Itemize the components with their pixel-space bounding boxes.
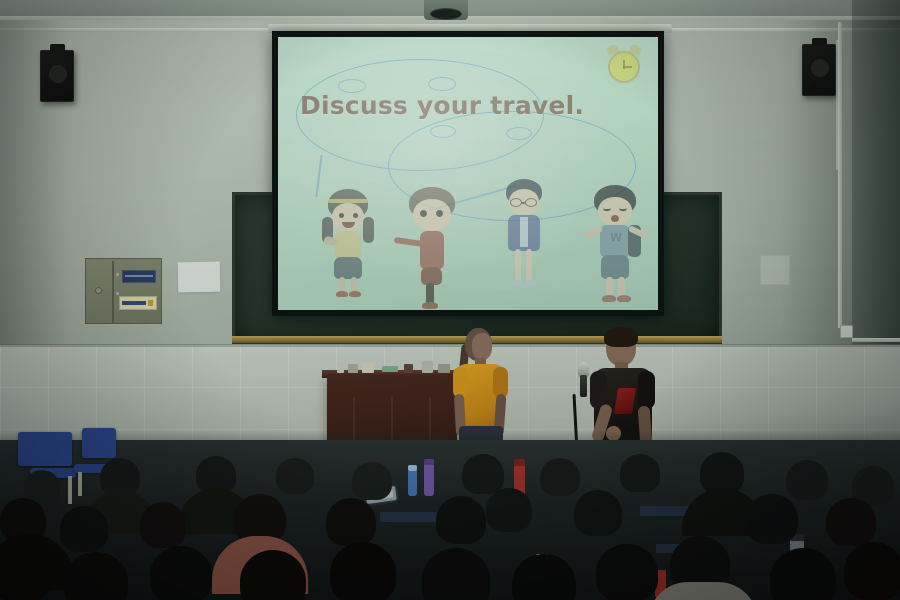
podium-item-box: [348, 364, 358, 373]
panel-divider: [112, 261, 114, 323]
podium-item-cup: [337, 362, 344, 373]
girl-eye-right: [353, 213, 358, 218]
bubble-detail: [428, 77, 456, 91]
girl-eye-left: [339, 213, 344, 218]
wall-conduit-horizontal: [852, 338, 900, 342]
projector-lens-icon: [430, 8, 462, 20]
speaker-right: [802, 44, 836, 96]
man-hair: [604, 327, 638, 347]
girl-skirt: [334, 257, 362, 279]
classroom-photo: Discuss your travel.: [0, 0, 900, 600]
student-shirt-front: [520, 217, 528, 247]
panel-label-sticker: [119, 296, 157, 310]
chair-leg: [68, 476, 72, 504]
girl-shoe-right: [349, 291, 361, 297]
audience-head: [620, 454, 660, 492]
audience-head: [844, 542, 900, 600]
boy-face: [413, 199, 451, 231]
speaker-cone-icon: [811, 59, 829, 77]
projection-screen: Discuss your travel.: [272, 31, 664, 316]
room-corner-right: [852, 0, 900, 350]
glasses-lens-right: [525, 198, 537, 207]
audience-head: [746, 494, 798, 544]
water-bottle: [408, 470, 417, 496]
bottle-cap: [514, 459, 525, 466]
cartoon-student-with-glasses: [496, 179, 552, 304]
audience-head: [422, 548, 490, 600]
panel-lcd-text-line: [125, 275, 153, 277]
panel-knob[interactable]: [95, 287, 102, 294]
podium-item-bottle: [422, 361, 433, 373]
blue-chair-back[interactable]: [82, 428, 116, 458]
wall-control-panel[interactable]: [85, 258, 162, 324]
backpack-boy-leg-left: [606, 277, 613, 297]
audience-head: [770, 548, 836, 600]
backpack-boy-shoe-left: [602, 295, 616, 302]
backpack-boy-shorts: [601, 255, 629, 279]
shirt-letter: W: [610, 231, 621, 244]
panel-label-bar: [122, 301, 146, 305]
wall-posted-paper: [178, 262, 221, 293]
bubble-detail: [506, 127, 532, 140]
backpack-boy-shoe-right: [617, 295, 631, 302]
boy-shirt: [420, 231, 444, 269]
bottle-cap: [424, 459, 434, 465]
man-sleeve-right: [638, 371, 655, 409]
speaker-bracket: [50, 44, 65, 52]
boy-shoes: [422, 302, 438, 309]
audience-head: [326, 498, 376, 546]
podium-item-marker: [382, 366, 398, 372]
panel-screw: [116, 292, 119, 295]
student-leg-left: [515, 249, 521, 283]
audience-head: [330, 542, 396, 600]
bubble-detail: [430, 125, 456, 138]
audience-head: [436, 496, 486, 544]
cartoon-boy-pointing: [396, 187, 468, 307]
audience-area: [0, 440, 900, 600]
podium-item-block: [438, 364, 450, 373]
blue-chair-back[interactable]: [18, 432, 72, 466]
panel-lcd-display: [122, 270, 156, 283]
audience-head: [140, 502, 186, 548]
boy-eye-right: [436, 210, 443, 217]
wall-conduit-vertical: [838, 22, 842, 328]
cartoon-girl-with-pigtails: [314, 189, 380, 301]
girl-shoe-left: [336, 291, 348, 297]
woman-face: [472, 333, 492, 360]
speaker-bracket: [812, 38, 827, 46]
glasses-bridge: [522, 202, 526, 204]
chair-leg: [78, 472, 82, 496]
bottle-cap: [408, 465, 417, 471]
audience-head: [64, 552, 128, 600]
wall-outlet[interactable]: [840, 325, 853, 338]
audience-head: [352, 462, 392, 500]
audience-head: [596, 544, 658, 600]
audience-head: [276, 458, 314, 494]
student-shoe-right: [525, 280, 537, 286]
clock-hand-minute: [623, 60, 625, 69]
audience-head: [826, 498, 876, 546]
backpack-boy-mouth: [611, 215, 619, 222]
girl-pigtail-right: [363, 217, 374, 243]
slide-title: Discuss your travel.: [300, 91, 584, 120]
student-leg-right: [526, 249, 532, 283]
podium-item-papers: [362, 363, 374, 373]
speaker-left: [40, 50, 74, 102]
student-shoe-left: [512, 280, 524, 286]
audience-head: [486, 488, 532, 532]
microphone-body[interactable]: [580, 375, 587, 397]
panel-label-badge: [148, 300, 153, 306]
audience-head: [150, 546, 212, 600]
wall-paper-patch: [760, 255, 790, 285]
clock-hand-hour: [623, 66, 632, 68]
audience-head: [60, 506, 108, 552]
man-sleeve-left: [590, 371, 607, 409]
backpack-boy-leg-right: [618, 277, 625, 297]
alarm-clock-icon: [604, 45, 644, 85]
speaker-cone-icon: [49, 65, 67, 83]
glasses-lens-left: [510, 198, 522, 207]
boy-eye-left: [420, 210, 427, 217]
projected-slide: Discuss your travel.: [278, 37, 658, 310]
audience-head: [462, 454, 504, 494]
podium-item-dark: [404, 364, 413, 373]
water-bottle: [424, 464, 434, 496]
panel-screw: [116, 273, 119, 276]
audience-head: [574, 490, 622, 536]
audience-head: [512, 554, 576, 600]
cartoon-boy-with-backpack: W: [574, 185, 652, 307]
audience-head: [540, 458, 580, 496]
audience-head: [786, 460, 828, 500]
